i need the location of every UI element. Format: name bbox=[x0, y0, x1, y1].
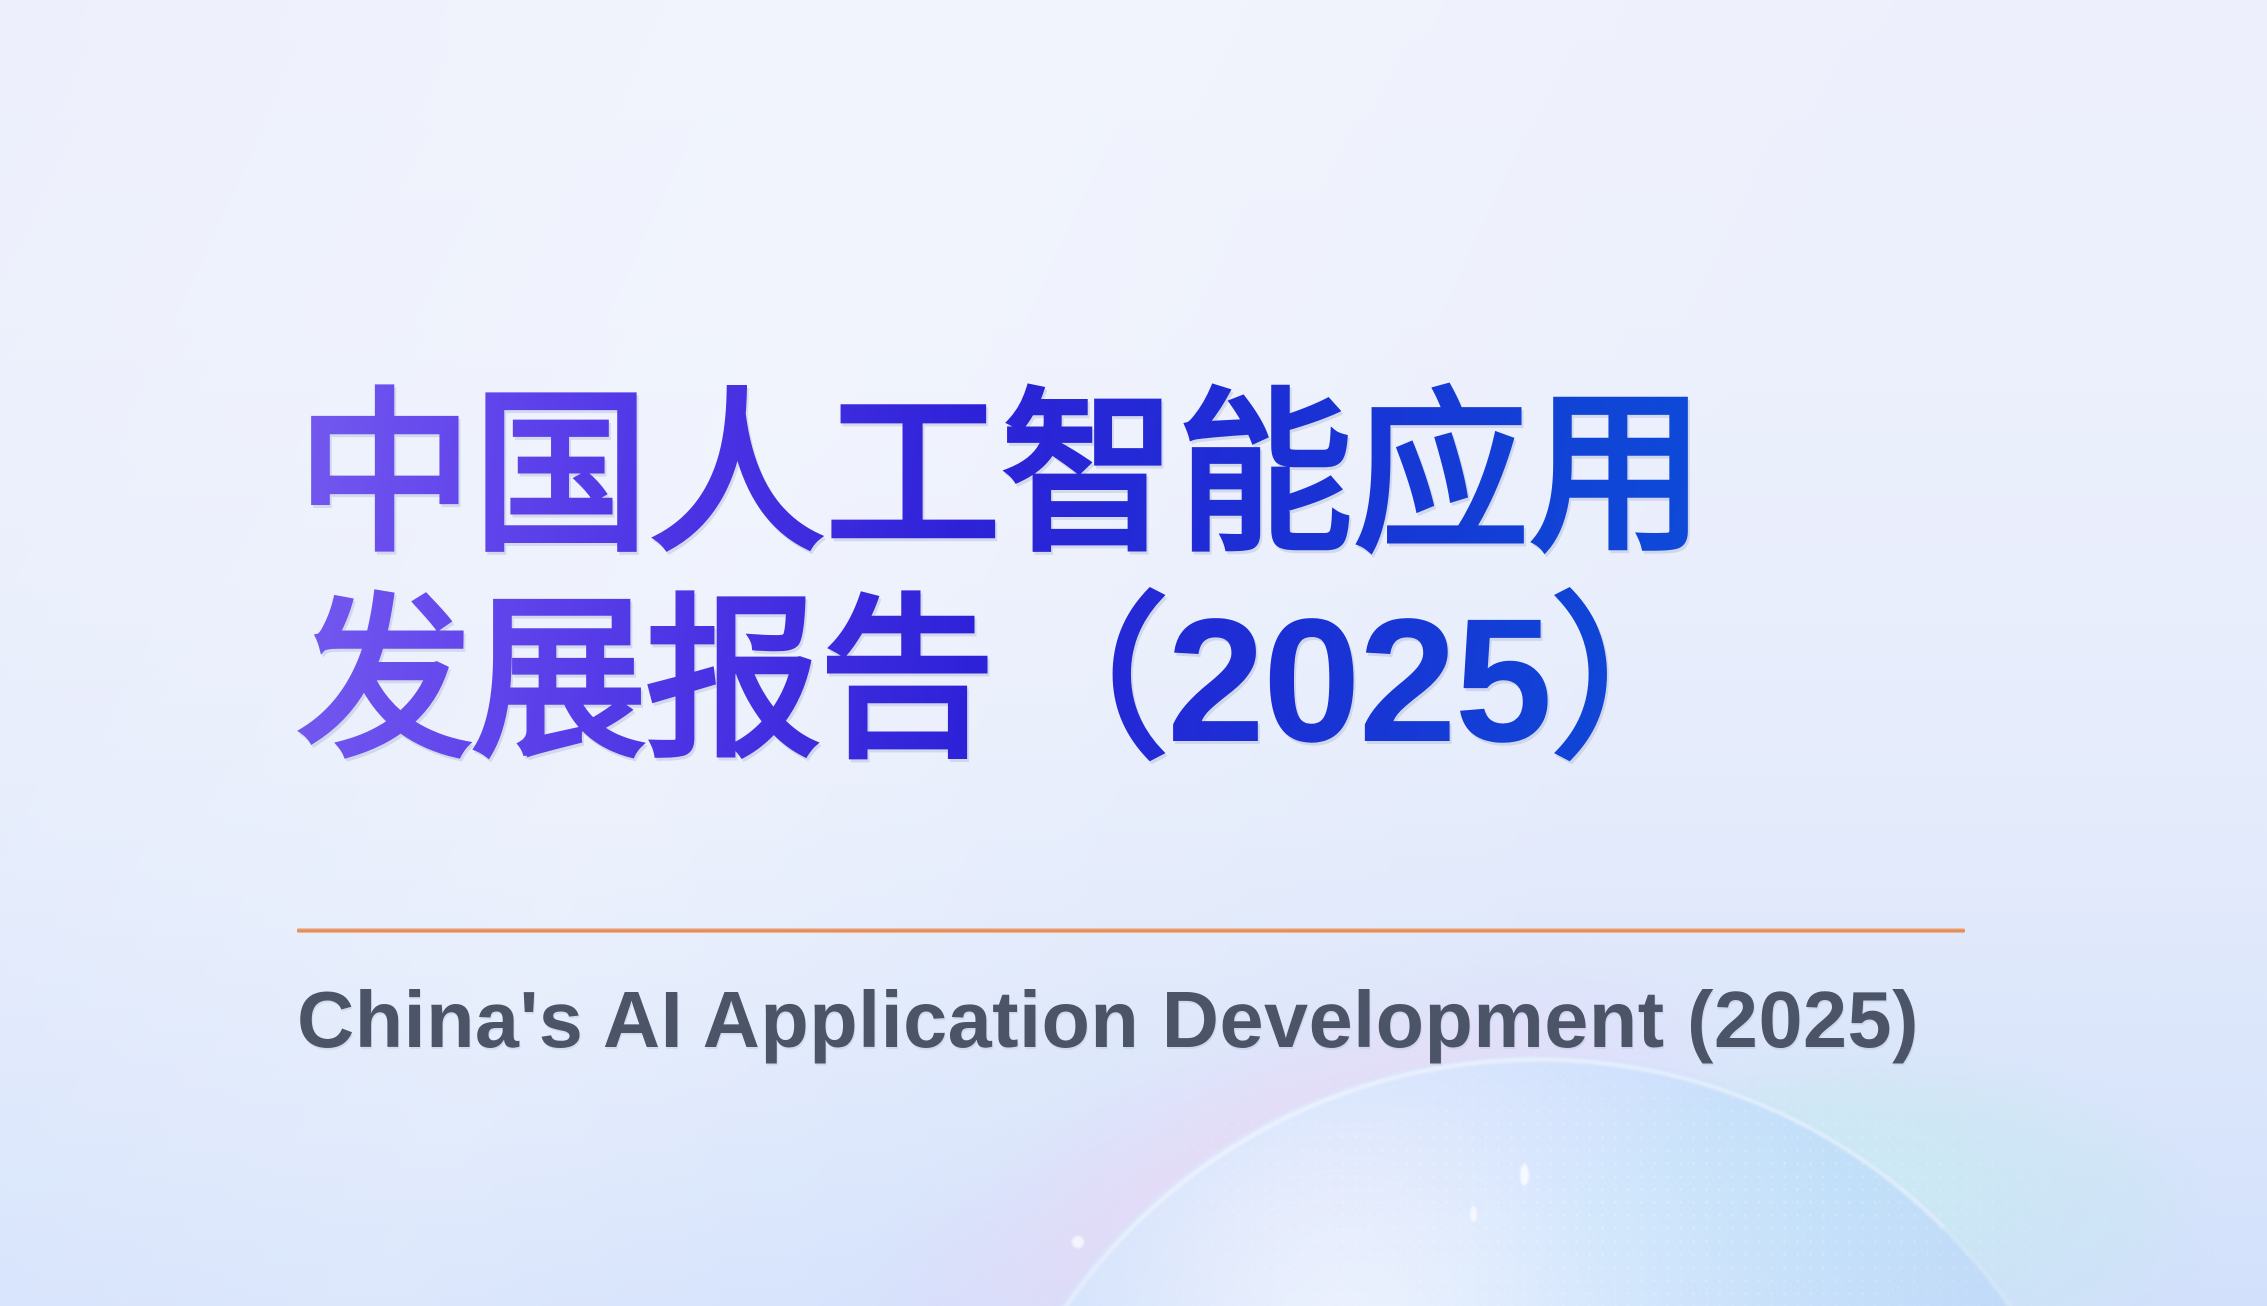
title-line-1: 中国人工智能应用 bbox=[297, 372, 1977, 578]
title-line-2: 发展报告（2025） bbox=[297, 578, 1977, 784]
page-title: 中国人工智能应用 发展报告（2025） bbox=[297, 372, 1977, 784]
cover-content: 中国人工智能应用 发展报告（2025） China's AI Applicati… bbox=[297, 0, 1977, 1306]
title-divider bbox=[297, 928, 1965, 933]
subtitle-english: China's AI Application Development (2025… bbox=[297, 972, 1980, 1068]
report-cover-page: 中国人工智能应用 发展报告（2025） China's AI Applicati… bbox=[0, 0, 2267, 1306]
